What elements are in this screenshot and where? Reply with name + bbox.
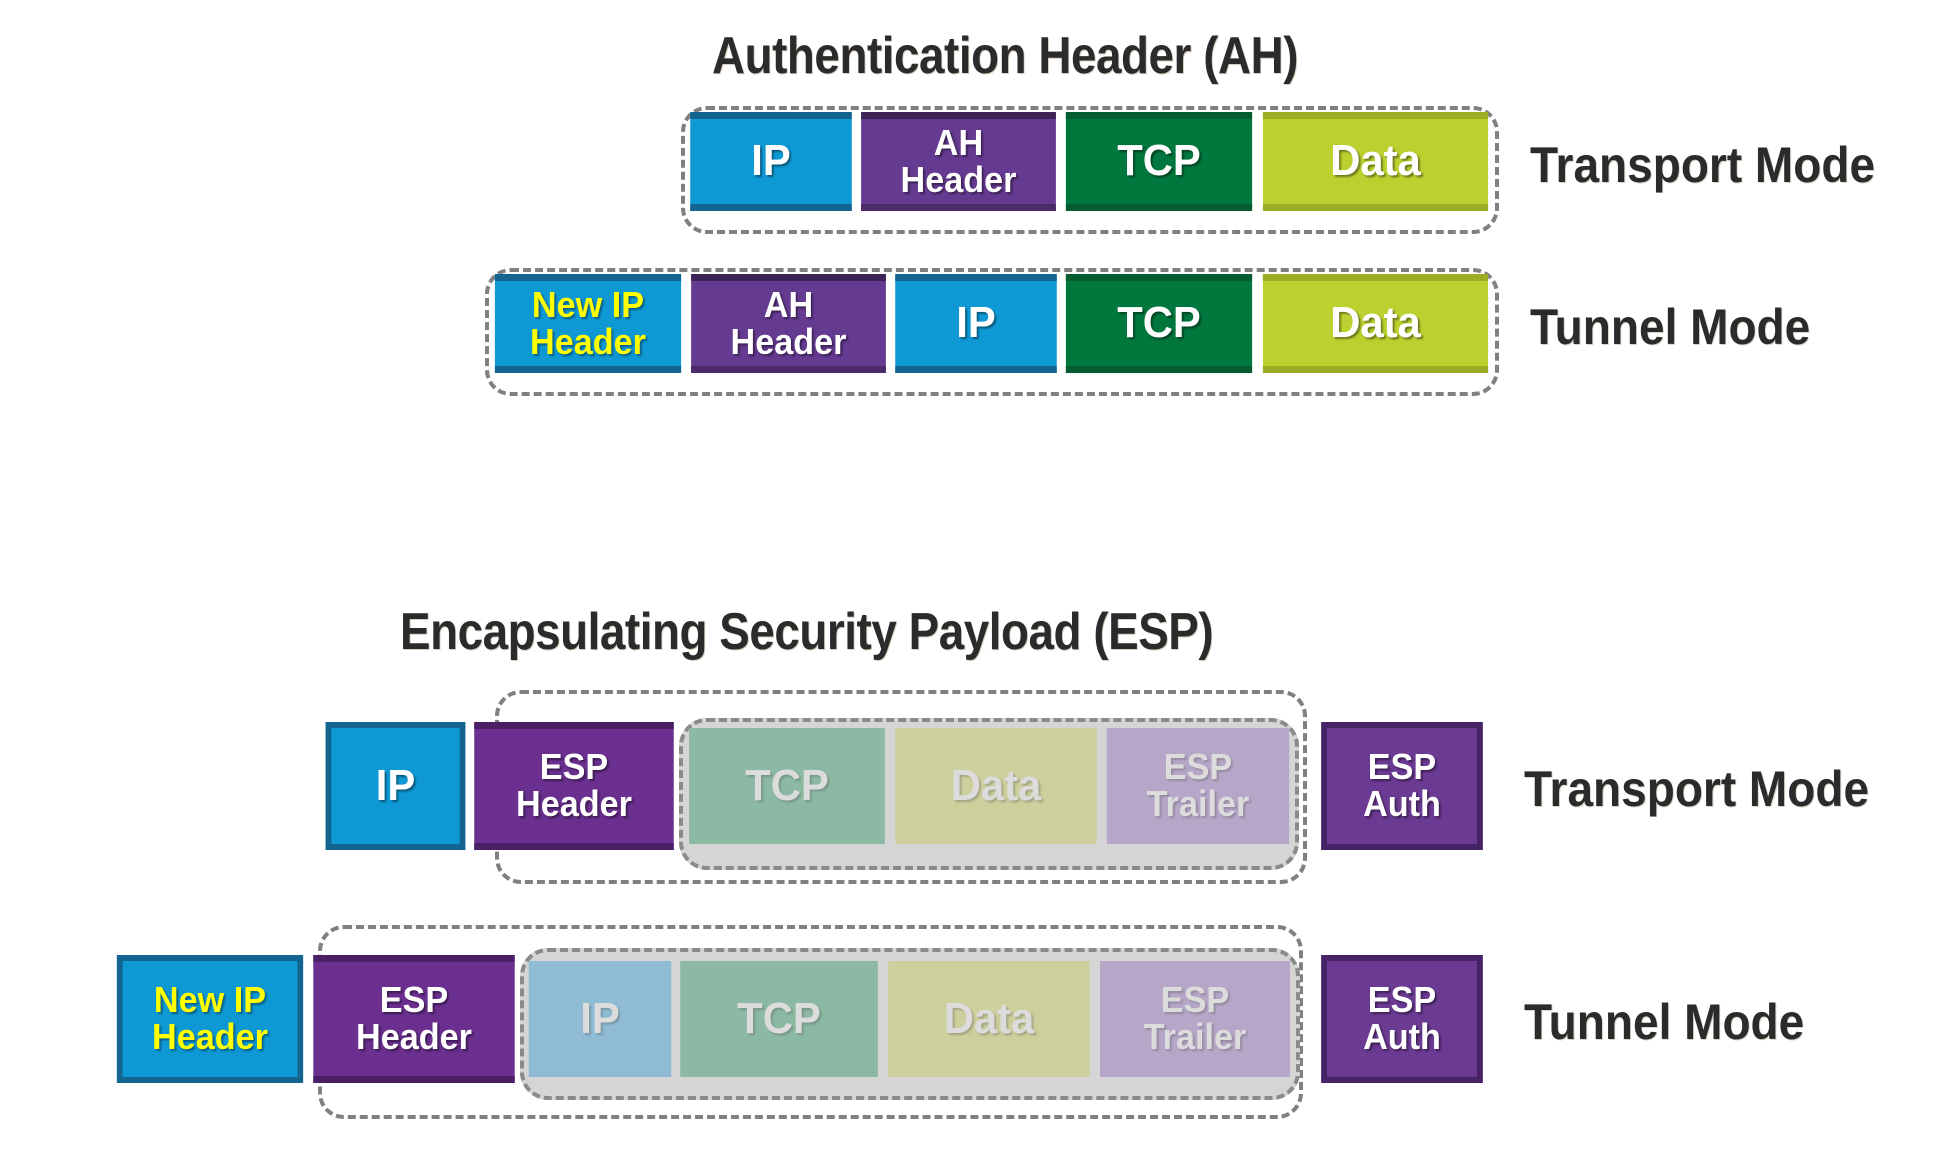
block-label: IP [376,764,415,809]
block-label-line2: Header [901,162,1017,199]
block-label-line2: Header [731,324,847,361]
block-ah-header: AH Header [861,112,1056,211]
block-ah-header: AH Header [691,274,886,373]
block-label-line1: New IP [532,287,644,324]
block-label-line1: ESP [1164,749,1232,786]
block-label: IP [580,997,619,1042]
block-label: TCP [737,997,821,1042]
block-label: IP [956,301,995,346]
block-label: TCP [745,764,829,809]
block-tcp: TCP [1066,112,1252,211]
block-label-line2: Header [356,1019,472,1056]
block-tcp-encrypted: TCP [680,961,878,1077]
ah-section-title: Authentication Header (AH) [712,26,1298,86]
block-data: Data [1263,274,1488,373]
block-esp-trailer-encrypted: ESP Trailer [1107,728,1289,844]
block-label-line1: ESP [1368,982,1436,1019]
block-new-ip-header: New IP Header [495,274,681,373]
block-label-line2: Header [152,1019,268,1056]
block-esp-trailer-encrypted: ESP Trailer [1100,961,1290,1077]
block-ip: IP [326,722,466,850]
block-label: TCP [1117,301,1201,346]
block-label-line1: ESP [380,982,448,1019]
block-data: Data [1263,112,1488,211]
block-label: Data [1330,139,1421,184]
block-label-line2: Trailer [1144,1019,1247,1056]
ipsec-diagram: Authentication Header (AH) IP AH Header … [0,0,1942,1160]
block-tcp: TCP [1066,274,1252,373]
block-label-line1: AH [934,125,983,162]
block-label-line2: Trailer [1147,786,1250,823]
block-ip-encrypted: IP [529,961,672,1077]
block-ip: IP [690,112,852,211]
block-new-ip-header: New IP Header [117,955,303,1083]
block-label-line1: AH [764,287,813,324]
block-label: IP [751,139,790,184]
block-label-line1: New IP [154,982,266,1019]
block-label-line1: ESP [1161,982,1229,1019]
block-data-encrypted: Data [888,961,1089,1077]
block-tcp-encrypted: TCP [689,728,885,844]
block-esp-auth: ESP Auth [1321,955,1483,1083]
block-esp-header: ESP Header [313,955,514,1083]
block-label: Data [944,997,1035,1042]
block-label-line2: Auth [1363,1019,1441,1056]
esp-tunnel-mode-label: Tunnel Mode [1524,993,1804,1051]
esp-transport-mode-label: Transport Mode [1524,760,1869,818]
block-esp-header: ESP Header [474,722,674,850]
block-label: TCP [1117,139,1201,184]
block-label-line2: Header [516,786,632,823]
block-label-line2: Auth [1363,786,1441,823]
block-esp-auth: ESP Auth [1321,722,1483,850]
ah-tunnel-mode-label: Tunnel Mode [1530,298,1810,356]
ah-transport-mode-label: Transport Mode [1530,136,1875,194]
block-label-line1: ESP [540,749,608,786]
esp-section-title: Encapsulating Security Payload (ESP) [400,602,1213,662]
block-label-line2: Header [530,324,646,361]
block-label: Data [951,764,1042,809]
block-data-encrypted: Data [895,728,1096,844]
block-ip: IP [895,274,1057,373]
block-label-line1: ESP [1368,749,1436,786]
block-label: Data [1330,301,1421,346]
